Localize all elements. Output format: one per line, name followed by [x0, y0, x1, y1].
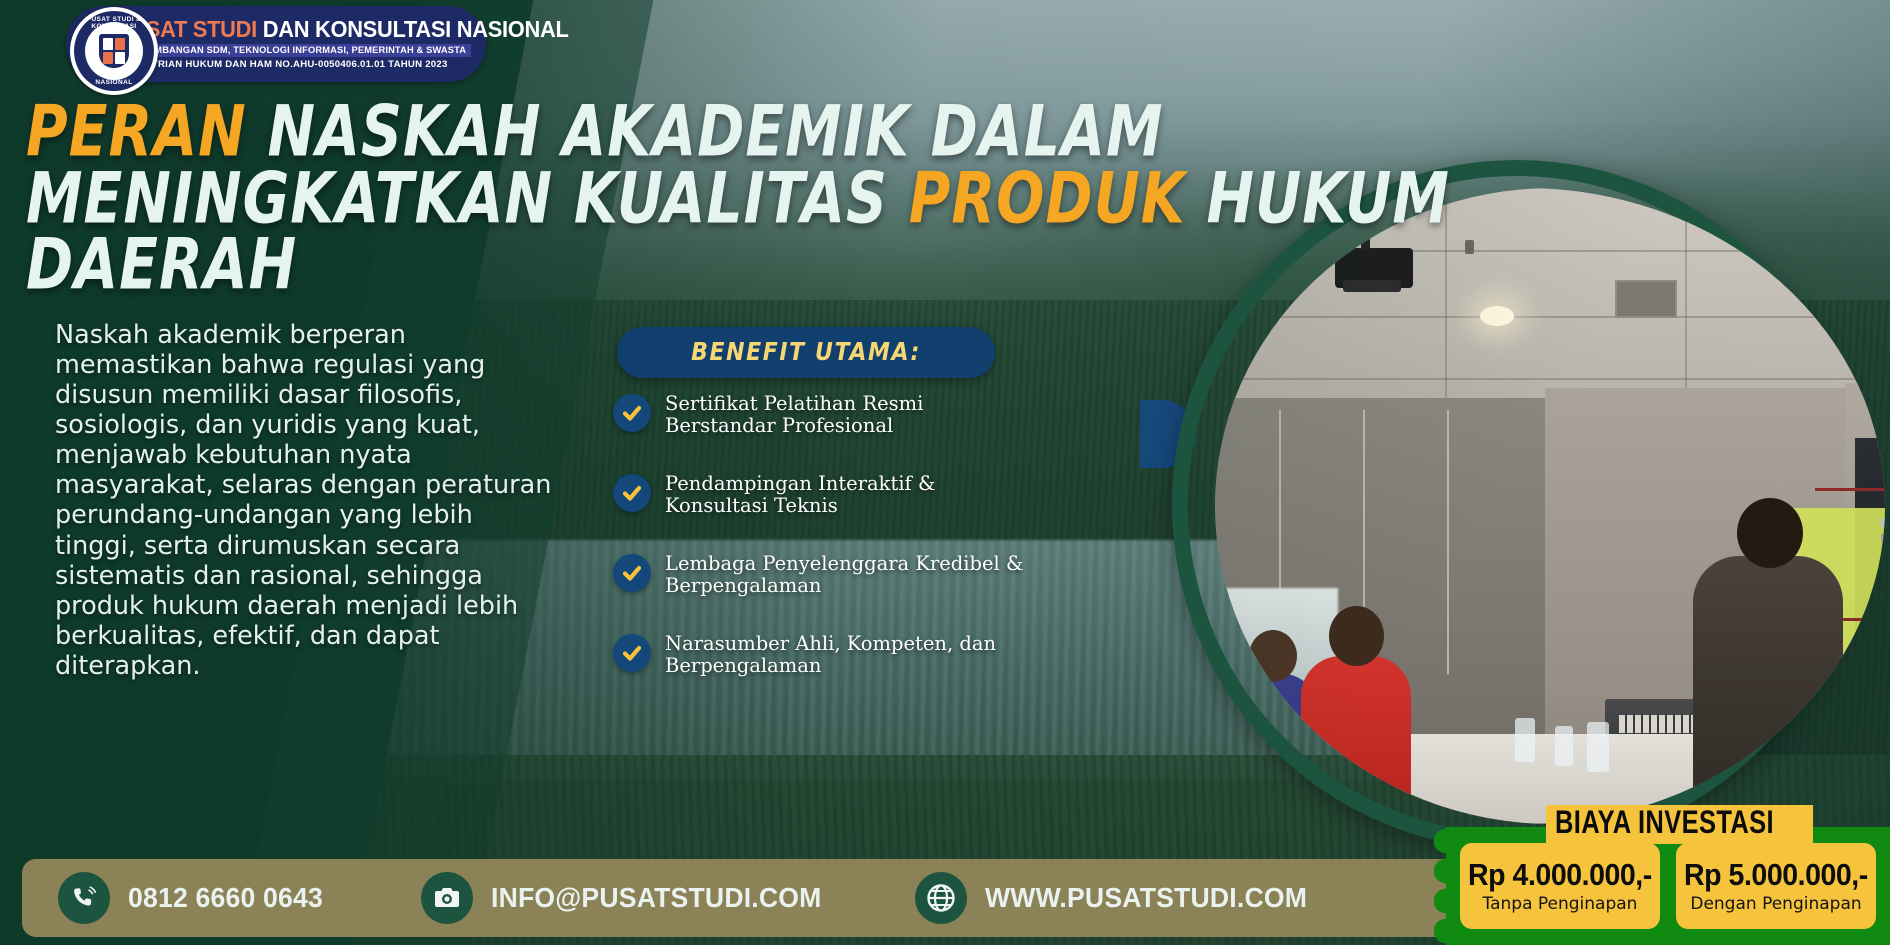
price-note: Dengan Penginapan: [1690, 896, 1861, 913]
benefit-header-label: BENEFIT UTAMA:: [691, 338, 921, 367]
brand-subtitle-services: PENGEMBANGAN SDM, TEKNOLOGI INFORMASI, P…: [116, 44, 471, 57]
price-amount: Rp 5.000.000,-: [1684, 859, 1868, 890]
globe-icon: [915, 872, 967, 924]
pricing-panel-edge-decoration: [1434, 827, 1458, 945]
benefit-text-line1: Narasumber Ahli, Kompeten, dan: [665, 633, 996, 655]
check-circle-icon: [613, 474, 651, 512]
camera-icon: [421, 872, 473, 924]
benefit-text: Lembaga Penyelenggara Kredibel & Berpeng…: [665, 552, 1023, 597]
price-note: Tanpa Penginapan: [1483, 896, 1638, 913]
price-card-without-lodging[interactable]: Rp 4.000.000,- Tanpa Penginapan: [1460, 843, 1660, 929]
brand-title-secondary: DAN KONSULTASI NASIONAL: [263, 16, 569, 42]
description-paragraph: Naskah akademik berperan memastikan bahw…: [55, 320, 555, 681]
benefit-text-line1: Lembaga Penyelenggara Kredibel &: [665, 553, 1023, 575]
benefit-text: Narasumber Ahli, Kompeten, dan Berpengal…: [665, 632, 996, 677]
email-address-label: INFO@PUSATSTUDI.COM: [491, 882, 822, 914]
list-item: Pendampingan Interaktif & Konsultasi Tek…: [613, 472, 1033, 517]
logo-arc-bottom-label: NASIONAL: [74, 79, 154, 86]
poster-canvas: PUSAT STUDI & KONSULTASI NASIONAL PUSAT …: [0, 0, 1890, 945]
benefit-text-line1: Sertifikat Pelatihan Resmi: [665, 393, 923, 415]
check-circle-icon: [613, 554, 651, 592]
check-circle-icon: [613, 394, 651, 432]
contact-phone[interactable]: 0812 6660 0643: [58, 872, 333, 924]
benefit-header-pill: BENEFIT UTAMA:: [617, 327, 995, 378]
contact-footer-bar: 0812 6660 0643 INFO@PUSATSTUDI.COM: [22, 859, 1462, 937]
benefit-text-line2: Berstandar Profesional: [665, 415, 923, 437]
headline-line2-post: HUKUM: [1207, 156, 1450, 239]
list-item: Lembaga Penyelenggara Kredibel & Berpeng…: [613, 552, 1033, 597]
contact-email[interactable]: INFO@PUSATSTUDI.COM: [421, 872, 839, 924]
headline-line3: DAERAH: [26, 231, 1163, 298]
list-item: Narasumber Ahli, Kompeten, dan Berpengal…: [613, 632, 1033, 677]
price-amount: Rp 4.000.000,-: [1468, 859, 1652, 890]
benefit-text-line2: Konsultasi Teknis: [665, 495, 935, 517]
website-url-label: WWW.PUSATSTUDI.COM: [985, 882, 1307, 914]
contact-website[interactable]: WWW.PUSATSTUDI.COM: [915, 872, 1324, 924]
list-item: Sertifikat Pelatihan Resmi Berstandar Pr…: [613, 392, 1033, 437]
benefit-text-line2: Berpengalaman: [665, 575, 1023, 597]
benefit-text: Pendampingan Interaktif & Konsultasi Tek…: [665, 472, 935, 517]
brand-title-block: PUSAT STUDI DAN KONSULTASI NASIONAL PENG…: [116, 18, 592, 70]
benefit-text: Sertifikat Pelatihan Resmi Berstandar Pr…: [665, 392, 923, 437]
benefit-text-line1: Pendampingan Interaktif &: [665, 473, 935, 495]
phone-number-label: 0812 6660 0643: [128, 882, 323, 914]
poster-headline: PERAN NASKAH AKADEMIK DALAM MENINGKATKAN…: [26, 98, 1163, 298]
brand-legal-registration: KEMENTRIAN HUKUM DAN HAM NO.AHU-0050406.…: [116, 60, 592, 70]
phone-icon: [58, 872, 110, 924]
benefit-text-line2: Berpengalaman: [665, 655, 996, 677]
brand-header-bar: PUSAT STUDI & KONSULTASI NASIONAL PUSAT …: [66, 6, 486, 82]
pricing-tag-badge: BIAYA INVESTASI: [1546, 805, 1813, 844]
check-circle-icon: [613, 634, 651, 672]
headline-highlight-produk: PRODUK: [909, 156, 1186, 239]
logo-shield-icon: [99, 34, 129, 68]
logo-arc-top-label: PUSAT STUDI & KONSULTASI: [74, 16, 154, 30]
pricing-tag-label: BIAYA INVESTASI: [1555, 805, 1774, 842]
price-card-with-lodging[interactable]: Rp 5.000.000,- Dengan Penginapan: [1676, 843, 1876, 929]
organization-logo-icon: PUSAT STUDI & KONSULTASI NASIONAL: [70, 7, 158, 95]
benefit-list: Sertifikat Pelatihan Resmi Berstandar Pr…: [613, 392, 1033, 712]
pricing-panel: Rp 4.000.000,- Tanpa Penginapan Rp 5.000…: [1446, 827, 1890, 945]
